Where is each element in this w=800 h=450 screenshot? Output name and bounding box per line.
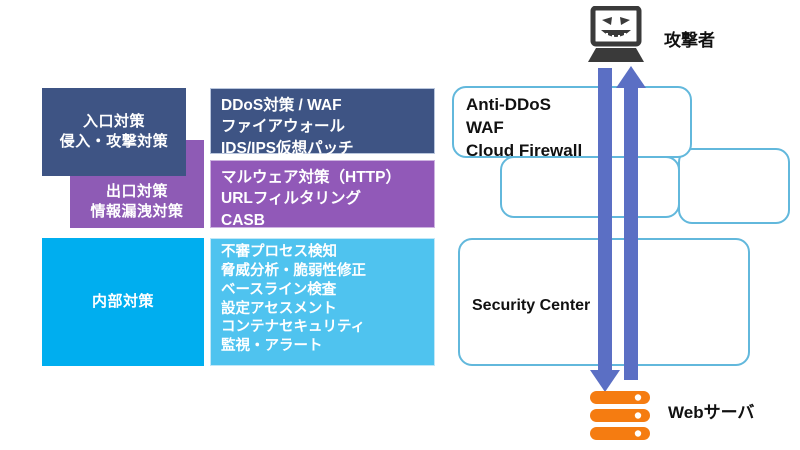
detail-block-entry: DDoS対策 / WAF ファイアウォール IDS/IPS仮想パッチ [210,88,435,154]
server-stack-icon [588,390,652,442]
category-block-internal: 内部対策 [42,238,204,366]
detail-block-exit: マルウェア対策（HTTP） URLフィルタリング CASB [210,160,435,228]
detail-block-internal: 不審プロセス検知 脅威分析・脆弱性修正 ベースライン検査 設定アセスメント コン… [210,238,435,366]
cloud-box-middle-right [678,148,790,224]
cloud-box-security-center-label: Security Center [472,295,590,316]
laptop-evil-face-icon [580,6,652,68]
attacker-label: 攻撃者 [664,26,715,51]
cloud-box-middle-left [500,156,680,218]
category-block-entry: 入口対策 侵入・攻撃対策 [42,88,186,176]
cloud-box-edge-protection-label: Anti-DDoS WAF Cloud Firewall [466,94,582,162]
webserver-label: Webサーバ [668,398,754,423]
diagram-canvas: 出口対策 情報漏洩対策 入口対策 侵入・攻撃対策 内部対策 DDoS対策 / W… [0,0,800,450]
